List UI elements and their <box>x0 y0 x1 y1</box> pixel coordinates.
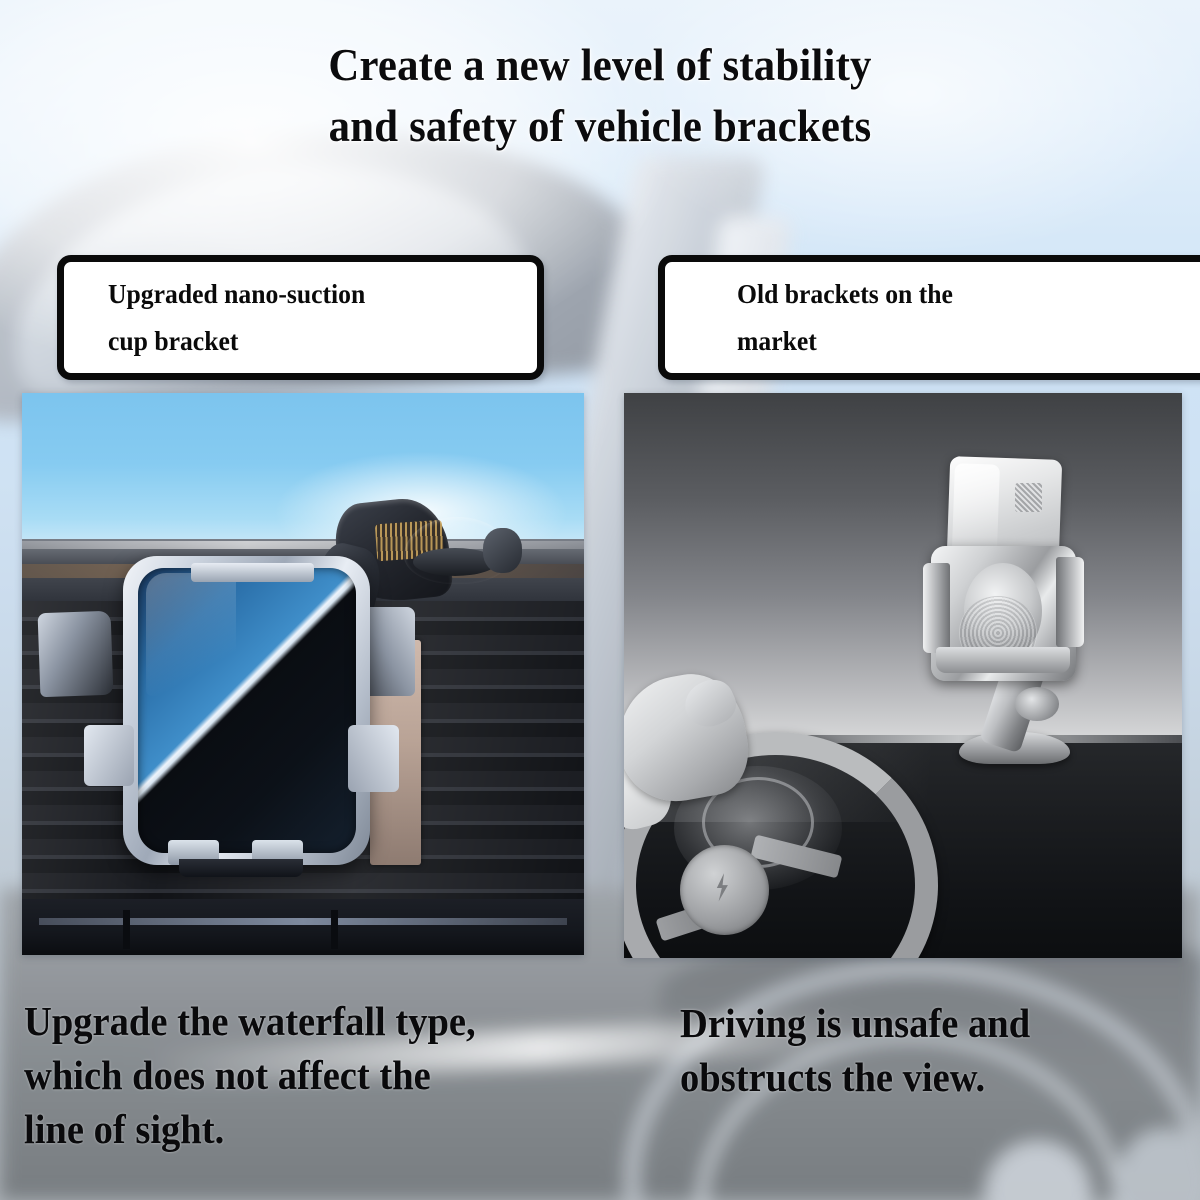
photo-right-mount-joint <box>1015 687 1060 721</box>
photo-left-bracket-foot <box>179 859 303 877</box>
photo-right-phone-icon <box>1015 483 1043 511</box>
photo-left-suction-knob <box>483 528 522 573</box>
photo-left-console-seam-two <box>331 910 338 949</box>
headline: Create a new level of stability and safe… <box>42 34 1158 156</box>
product-comparison-infographic: Create a new level of stability and safe… <box>0 0 1200 1200</box>
photo-left-left-clamp-arm <box>37 611 113 698</box>
photo-left-console <box>22 899 584 955</box>
photo-old-bracket-obstructing-view <box>624 393 1182 958</box>
photo-left-right-lower-pad <box>348 725 399 792</box>
photo-right-cradle-right-clamp <box>1056 557 1084 647</box>
photo-upgraded-nano-suction-bracket <box>22 393 584 955</box>
photo-left-top-clip <box>191 563 315 582</box>
label-text-upgraded-bracket: Upgraded nano-suction cup bracket <box>108 271 516 364</box>
photo-left-left-lower-pad <box>84 725 135 787</box>
photo-right-cradle-left-clamp <box>923 563 951 653</box>
caption-upgraded-bracket: Upgrade the waterfall type, which does n… <box>24 994 607 1156</box>
photo-right-cradle-bottom-clamp <box>936 647 1070 672</box>
label-box-old-bracket: Old brackets on the market <box>658 255 1200 380</box>
photo-left-console-seam-one <box>123 910 130 949</box>
photo-left-console-trim <box>39 918 567 924</box>
photo-left-screen-gloss <box>146 573 236 697</box>
label-text-old-bracket: Old brackets on the market <box>737 271 1187 364</box>
label-box-upgraded-bracket: Upgraded nano-suction cup bracket <box>57 255 544 380</box>
caption-old-bracket: Driving is unsafe and obstructs the view… <box>680 996 1169 1104</box>
